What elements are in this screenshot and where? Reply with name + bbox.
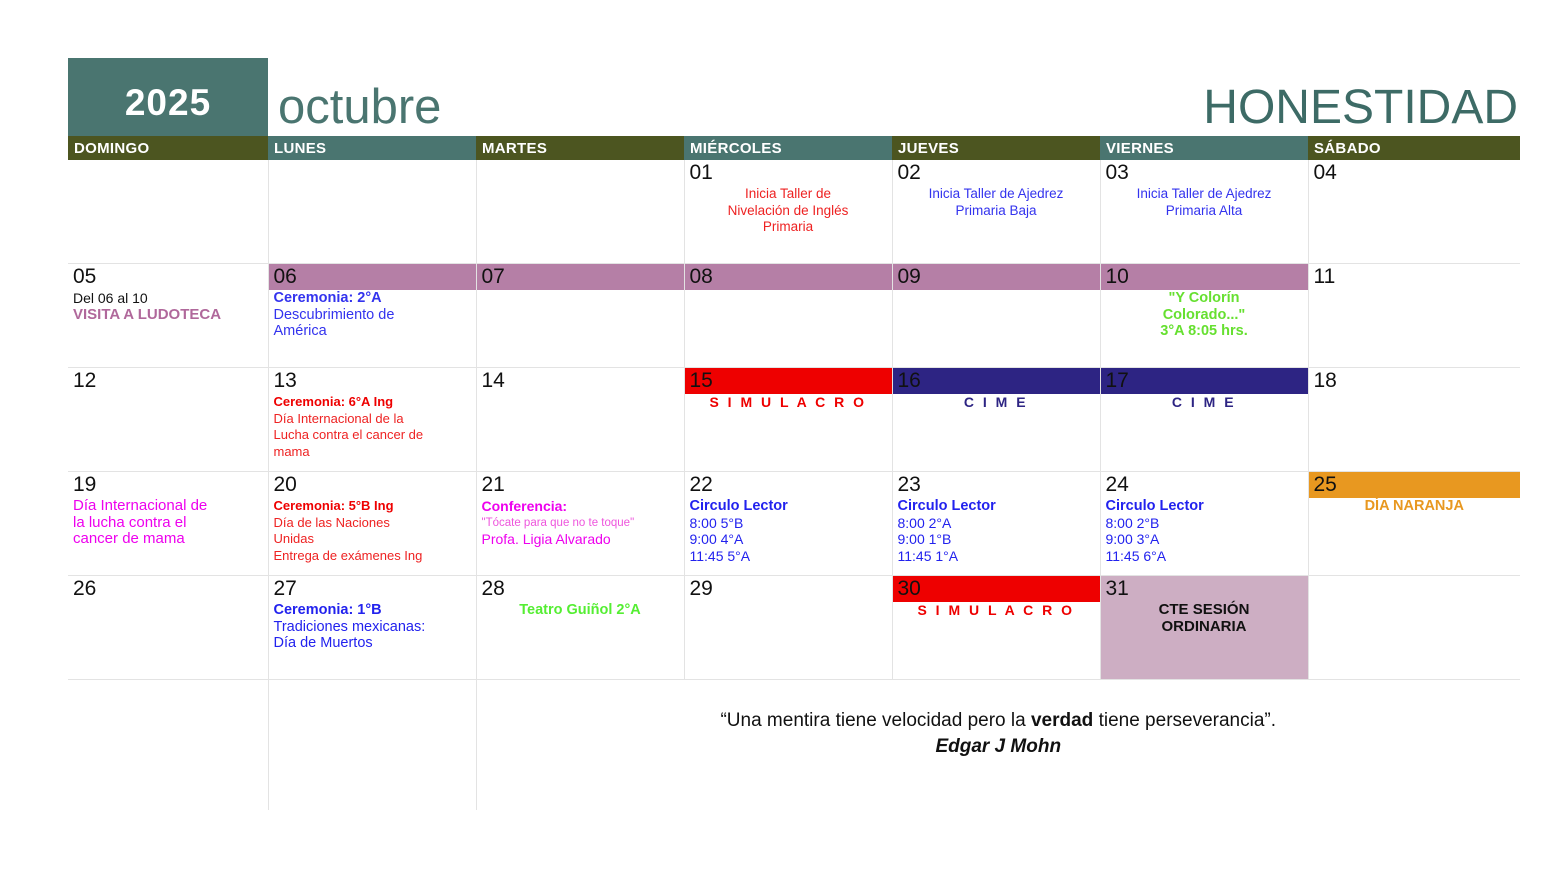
event-list: Inicia Taller de Ajedrez Primaria Alta <box>1101 186 1308 219</box>
day-cell-empty[interactable] <box>1308 576 1520 680</box>
event-text: 8:00 2°A <box>898 515 1095 532</box>
day-cell-24[interactable]: 24 Circulo Lector 8:00 2°B 9:00 3°A 11:4… <box>1100 472 1308 576</box>
calendar-grid: DOMINGO LUNES MARTES MIÉRCOLES JUEVES VI… <box>68 136 1520 810</box>
event-text: S I M U L A C R O <box>898 602 1095 619</box>
event-list: S I M U L A C R O <box>685 394 892 411</box>
calendar-titlebar: 2025 octubre HONESTIDAD <box>68 58 1520 136</box>
date-number: 06 <box>269 264 476 290</box>
day-cell-20[interactable]: 20 Ceremonia: 5°B Ing Día de las Nacione… <box>268 472 476 576</box>
date-number: 03 <box>1101 160 1308 186</box>
date-number <box>1309 576 1521 602</box>
date-number: 07 <box>477 264 684 290</box>
year-label: 2025 <box>125 82 211 124</box>
day-cell-17[interactable]: 17 C I M E <box>1100 368 1308 472</box>
day-cell-empty[interactable] <box>268 160 476 264</box>
day-cell-22[interactable]: 22 Circulo Lector 8:00 5°B 9:00 4°A 11:4… <box>684 472 892 576</box>
date-number: 26 <box>68 576 268 602</box>
day-cell-04[interactable]: 04 <box>1308 160 1520 264</box>
event-text: Colorado..." <box>1106 307 1303 324</box>
day-cell-11[interactable]: 11 <box>1308 264 1520 368</box>
calendar-week-row: 19 Día Internacional de la lucha contra … <box>68 472 1520 576</box>
event-text: la lucha contra el <box>73 515 263 532</box>
event-text: ORDINARIA <box>1106 619 1303 636</box>
event-list: Circulo Lector 8:00 5°B 9:00 4°A 11:45 5… <box>685 498 892 564</box>
date-number: 27 <box>269 576 476 602</box>
date-number <box>477 160 684 186</box>
weekday-header-row: DOMINGO LUNES MARTES MIÉRCOLES JUEVES VI… <box>68 136 1520 160</box>
event-text: Nivelación de Inglés <box>690 203 887 220</box>
event-list: Del 06 al 10 VISITA A LUDOTECA <box>68 290 268 323</box>
day-cell-25[interactable]: 25 DÍA NARANJA <box>1308 472 1520 576</box>
event-text: Ceremonia: 1°B <box>274 602 471 619</box>
weekday-header-lunes: LUNES <box>268 136 476 160</box>
event-list: Circulo Lector 8:00 2°B 9:00 3°A 11:45 6… <box>1101 498 1308 564</box>
date-number: 02 <box>893 160 1100 186</box>
date-number: 23 <box>893 472 1100 498</box>
date-number: 01 <box>685 160 892 186</box>
event-text: Día de las Naciones <box>274 515 471 532</box>
value-word-title: HONESTIDAD <box>1203 84 1520 136</box>
event-text: DÍA NARANJA <box>1314 498 1516 515</box>
event-text: Entrega de exámenes Ing <box>274 548 471 565</box>
day-cell-18[interactable]: 18 <box>1308 368 1520 472</box>
event-text: 11:45 1°A <box>898 548 1095 565</box>
date-number: 24 <box>1101 472 1308 498</box>
event-text: Día de Muertos <box>274 635 471 652</box>
day-cell-01[interactable]: 01 Inicia Taller de Nivelación de Inglés… <box>684 160 892 264</box>
event-text: Descubrimiento de <box>274 307 471 324</box>
calendar-footer-row: “Una mentira tiene velocidad pero la ver… <box>68 680 1520 811</box>
date-number: 08 <box>685 264 892 290</box>
quote-bold-word: verdad <box>1031 710 1093 731</box>
event-text: "Y Colorín <box>1106 290 1303 307</box>
event-text: Primaria Alta <box>1106 203 1303 220</box>
event-text: 11:45 6°A <box>1106 548 1303 565</box>
event-list: Ceremonia: 2°A Descubrimiento de América <box>269 290 476 340</box>
event-text: Circulo Lector <box>690 498 887 515</box>
event-text: C I M E <box>1106 394 1303 411</box>
event-text: C I M E <box>898 394 1095 411</box>
weekday-header-martes: MARTES <box>476 136 684 160</box>
event-list: Teatro Guiñol 2°A <box>477 602 684 619</box>
day-cell-10[interactable]: 10 "Y Colorín Colorado..." 3°A 8:05 hrs. <box>1100 264 1308 368</box>
event-list: Inicia Taller de Ajedrez Primaria Baja <box>893 186 1100 219</box>
day-cell-09[interactable]: 09 <box>892 264 1100 368</box>
day-cell-19[interactable]: 19 Día Internacional de la lucha contra … <box>68 472 268 576</box>
event-text: Día Internacional de la <box>274 411 471 428</box>
day-cell-16[interactable]: 16 C I M E <box>892 368 1100 472</box>
date-number: 12 <box>68 368 268 394</box>
date-number: 11 <box>1309 264 1521 290</box>
date-number: 17 <box>1101 368 1308 394</box>
event-text: 9:00 1°B <box>898 531 1095 548</box>
event-text: Del 06 al 10 <box>73 290 263 307</box>
event-text: Conferencia: <box>482 498 679 515</box>
date-number: 09 <box>893 264 1100 290</box>
date-number: 18 <box>1309 368 1521 394</box>
weekday-header-sabado: SÁBADO <box>1308 136 1520 160</box>
event-list: C I M E <box>1101 394 1308 411</box>
quote-part2: tiene perseverancia”. <box>1093 710 1276 731</box>
event-text: CTE SESIÓN <box>1106 602 1303 619</box>
event-list: Ceremonia: 1°B Tradiciones mexicanas: Dí… <box>269 602 476 652</box>
date-number: 31 <box>1101 576 1308 602</box>
date-number: 05 <box>68 264 268 290</box>
date-number: 30 <box>893 576 1100 602</box>
date-number: 25 <box>1309 472 1521 498</box>
day-cell-21[interactable]: 21 Conferencia: "Tócate para que no te t… <box>476 472 684 576</box>
day-cell-13[interactable]: 13 Ceremonia: 6°A Ing Día Internacional … <box>268 368 476 472</box>
event-list: S I M U L A C R O <box>893 602 1100 619</box>
event-list: DÍA NARANJA <box>1309 498 1521 515</box>
event-list: Circulo Lector 8:00 2°A 9:00 1°B 11:45 1… <box>893 498 1100 564</box>
event-text: 3°A 8:05 hrs. <box>1106 323 1303 340</box>
date-number: 16 <box>893 368 1100 394</box>
date-number: 29 <box>685 576 892 602</box>
date-number: 19 <box>68 472 268 498</box>
event-text: Primaria <box>690 219 887 236</box>
day-cell-27[interactable]: 27 Ceremonia: 1°B Tradiciones mexicanas:… <box>268 576 476 680</box>
day-cell-02[interactable]: 02 Inicia Taller de Ajedrez Primaria Baj… <box>892 160 1100 264</box>
quote-author: Edgar J Mohn <box>477 734 1521 760</box>
calendar-week-row: 05 Del 06 al 10 VISITA A LUDOTECA 06 Cer… <box>68 264 1520 368</box>
event-text: 9:00 4°A <box>690 531 887 548</box>
event-text: Circulo Lector <box>1106 498 1303 515</box>
event-text: Ceremonia: 6°A Ing <box>274 394 471 411</box>
event-text: Tradiciones mexicanas: <box>274 619 471 636</box>
calendar-week-row: 12 13 Ceremonia: 6°A Ing Día Internacion… <box>68 368 1520 472</box>
event-list: Inicia Taller de Nivelación de Inglés Pr… <box>685 186 892 236</box>
day-cell-28[interactable]: 28 Teatro Guiñol 2°A <box>476 576 684 680</box>
date-number: 04 <box>1309 160 1521 186</box>
event-text: VISITA A LUDOTECA <box>73 307 263 324</box>
event-text: S I M U L A C R O <box>690 394 887 411</box>
weekday-header-miercoles: MIÉRCOLES <box>684 136 892 160</box>
date-number: 10 <box>1101 264 1308 290</box>
day-cell-26[interactable]: 26 <box>68 576 268 680</box>
quote-text: “Una mentira tiene velocidad pero la ver… <box>477 708 1521 734</box>
event-text: mama <box>274 444 471 461</box>
quote-block: “Una mentira tiene velocidad pero la ver… <box>477 680 1521 760</box>
date-number <box>68 160 268 186</box>
date-number: 22 <box>685 472 892 498</box>
day-cell-30[interactable]: 30 S I M U L A C R O <box>892 576 1100 680</box>
month-title: octubre <box>268 83 1203 136</box>
date-number: 14 <box>477 368 684 394</box>
event-list: Ceremonia: 6°A Ing Día Internacional de … <box>269 394 476 460</box>
day-cell-empty[interactable] <box>68 160 268 264</box>
event-text: Primaria Baja <box>898 203 1095 220</box>
day-cell-14[interactable]: 14 <box>476 368 684 472</box>
quote-container: “Una mentira tiene velocidad pero la ver… <box>476 680 1520 811</box>
event-text: 8:00 2°B <box>1106 515 1303 532</box>
event-list: CTE SESIÓN ORDINARIA <box>1101 602 1308 635</box>
event-text: cancer de mama <box>73 531 263 548</box>
event-text: 11:45 5°A <box>690 548 887 565</box>
day-cell-empty[interactable] <box>476 160 684 264</box>
date-number: 15 <box>685 368 892 394</box>
date-number: 20 <box>269 472 476 498</box>
event-list: Conferencia: "Tócate para que no te toqu… <box>477 498 684 548</box>
event-list: C I M E <box>893 394 1100 411</box>
event-text: Circulo Lector <box>898 498 1095 515</box>
event-text: Día Internacional de <box>73 498 263 515</box>
day-cell-15[interactable]: 15 S I M U L A C R O <box>684 368 892 472</box>
date-number: 13 <box>269 368 476 394</box>
event-text: 8:00 5°B <box>690 515 887 532</box>
event-text: Teatro Guiñol 2°A <box>482 602 679 619</box>
weekday-header-viernes: VIERNES <box>1100 136 1308 160</box>
year-badge: 2025 <box>68 58 268 136</box>
event-text: Lucha contra el cancer de <box>274 427 471 444</box>
event-list: Ceremonia: 5°B Ing Día de las Naciones U… <box>269 498 476 564</box>
event-text: Profa. Ligia Alvarado <box>482 531 679 548</box>
day-cell-05[interactable]: 05 Del 06 al 10 VISITA A LUDOTECA <box>68 264 268 368</box>
event-text: "Tócate para que no te toque" <box>482 515 679 532</box>
date-number: 21 <box>477 472 684 498</box>
weekday-header-jueves: JUEVES <box>892 136 1100 160</box>
event-list: "Y Colorín Colorado..." 3°A 8:05 hrs. <box>1101 290 1308 340</box>
day-cell-23[interactable]: 23 Circulo Lector 8:00 2°A 9:00 1°B 11:4… <box>892 472 1100 576</box>
event-text: América <box>274 323 471 340</box>
event-text: Inicia Taller de <box>690 186 887 203</box>
event-text: Ceremonia: 2°A <box>274 290 471 307</box>
date-number <box>269 160 476 186</box>
day-cell-08[interactable]: 08 <box>684 264 892 368</box>
day-cell-03[interactable]: 03 Inicia Taller de Ajedrez Primaria Alt… <box>1100 160 1308 264</box>
day-cell-06[interactable]: 06 Ceremonia: 2°A Descubrimiento de Amér… <box>268 264 476 368</box>
day-cell-31[interactable]: 31 CTE SESIÓN ORDINARIA <box>1100 576 1308 680</box>
event-text: 9:00 3°A <box>1106 531 1303 548</box>
weekday-header-domingo: DOMINGO <box>68 136 268 160</box>
day-cell-29[interactable]: 29 <box>684 576 892 680</box>
day-cell-07[interactable]: 07 <box>476 264 684 368</box>
event-list: Día Internacional de la lucha contra el … <box>68 498 268 548</box>
event-text: Inicia Taller de Ajedrez <box>1106 186 1303 203</box>
calendar-page: 2025 octubre HONESTIDAD DOMINGO LUNES MA… <box>0 0 1560 873</box>
footer-spacer <box>268 680 476 811</box>
event-text: Unidas <box>274 531 471 548</box>
calendar-week-row: 26 27 Ceremonia: 1°B Tradiciones mexican… <box>68 576 1520 680</box>
calendar-week-row: 01 Inicia Taller de Nivelación de Inglés… <box>68 160 1520 264</box>
day-cell-12[interactable]: 12 <box>68 368 268 472</box>
date-number: 28 <box>477 576 684 602</box>
event-text: Inicia Taller de Ajedrez <box>898 186 1095 203</box>
quote-part1: “Una mentira tiene velocidad pero la <box>720 710 1031 731</box>
footer-spacer <box>68 680 268 811</box>
event-text: Ceremonia: 5°B Ing <box>274 498 471 515</box>
